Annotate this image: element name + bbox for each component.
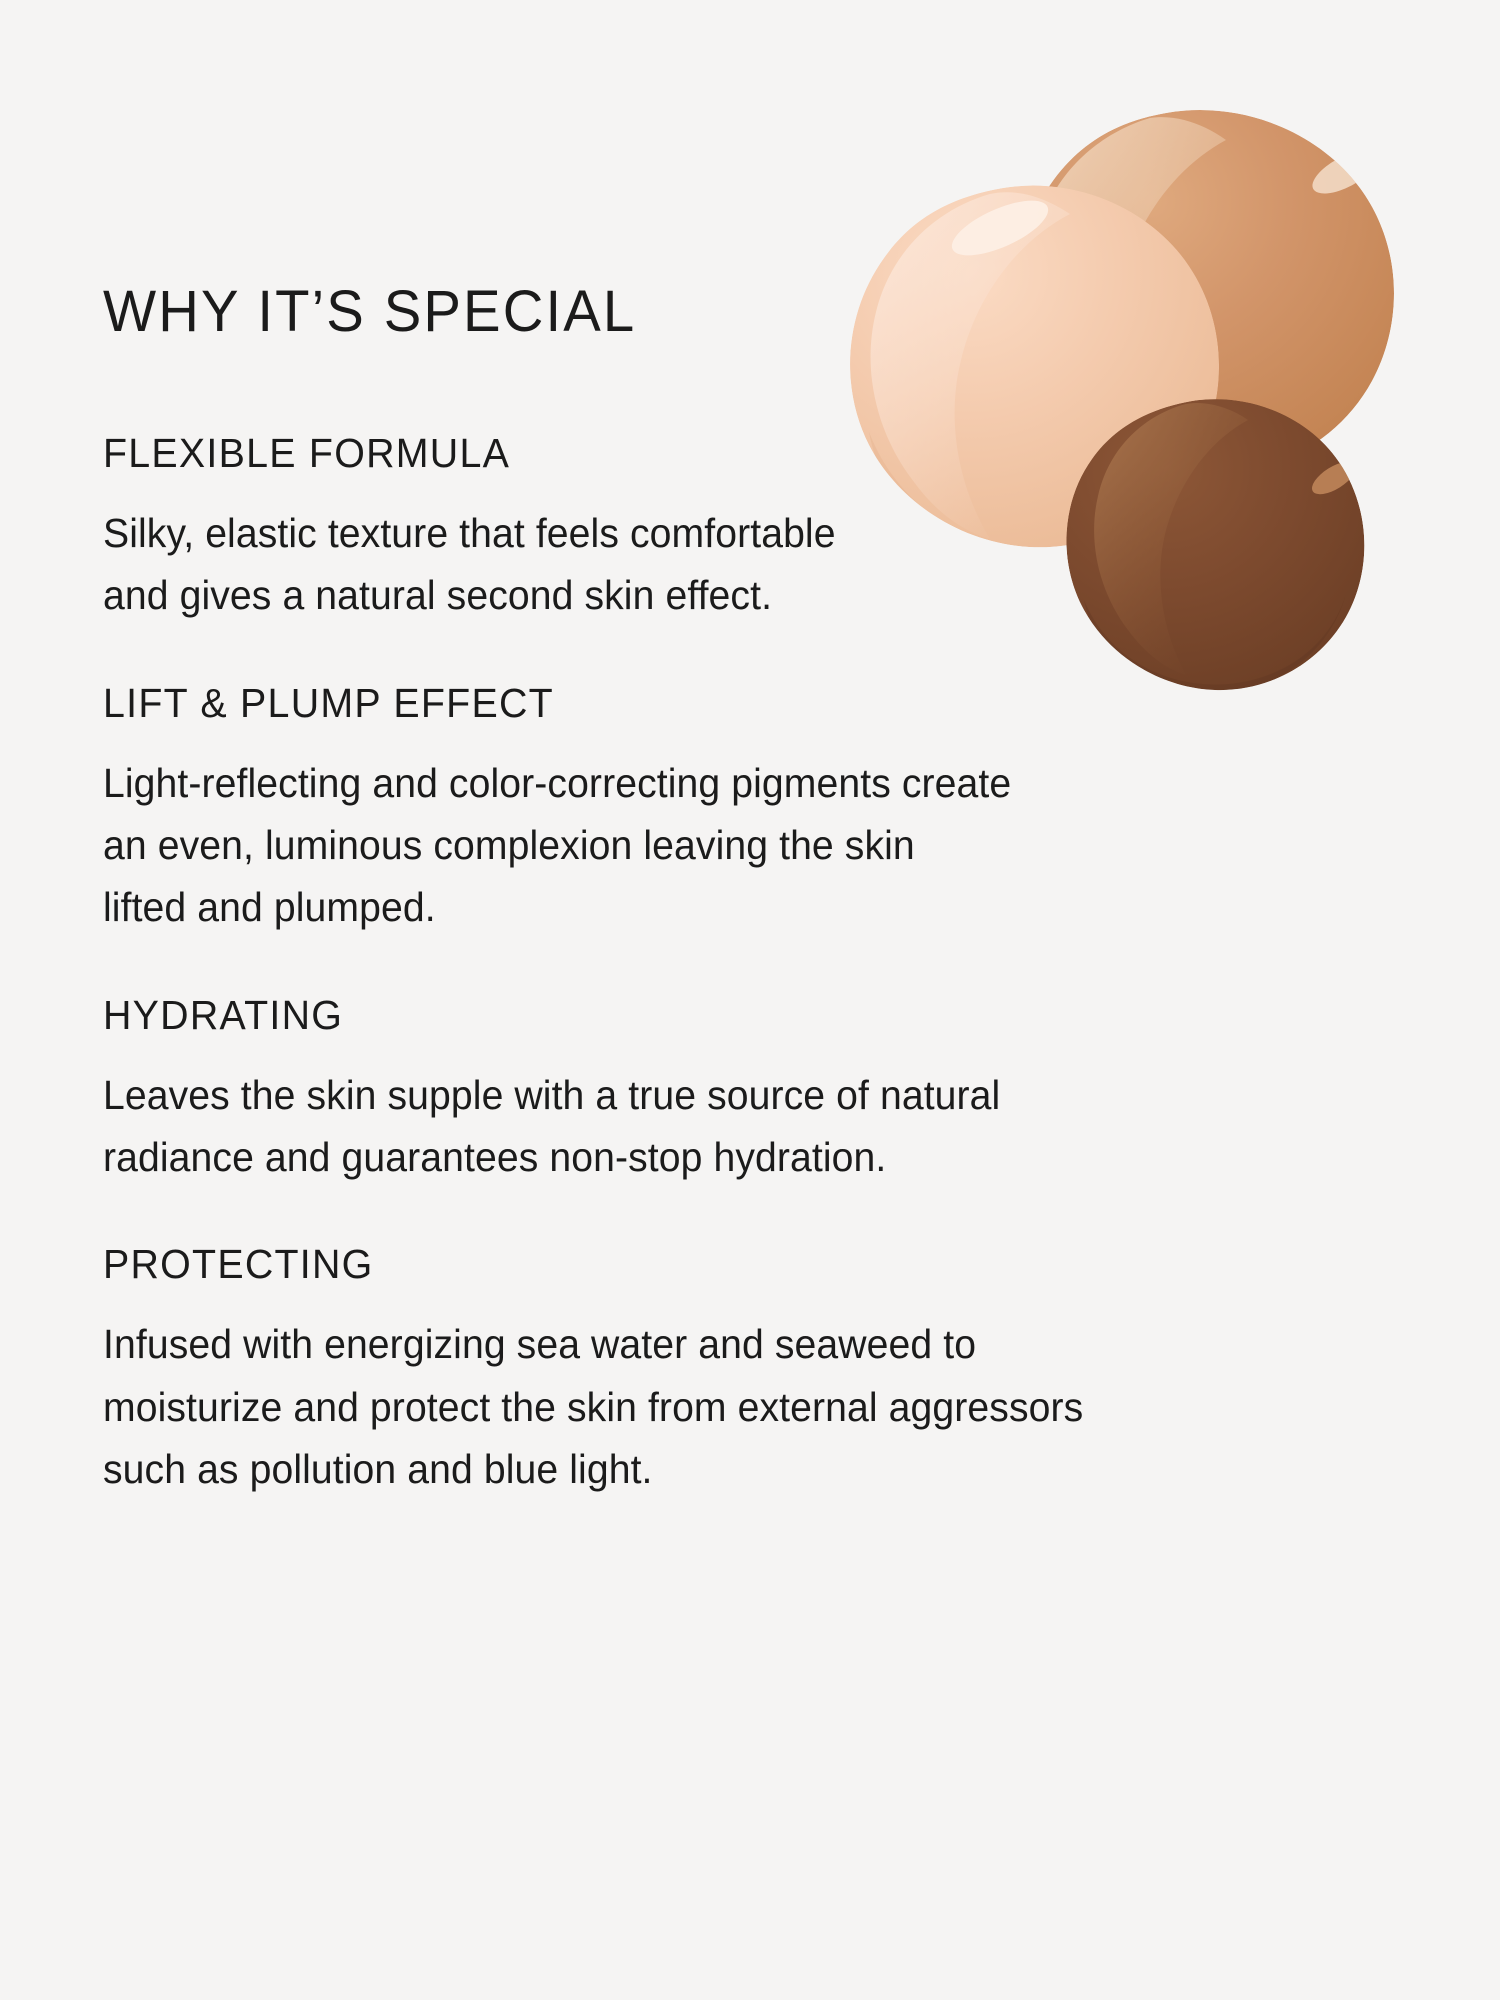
- section-body: Leaves the skin supple with a true sourc…: [103, 1064, 1383, 1189]
- benefit-section-flexible-formula: FLEXIBLE FORMULA Silky, elastic texture …: [103, 433, 1443, 627]
- section-body: Infused with energizing sea water and se…: [103, 1313, 1383, 1500]
- section-heading: LIFT & PLUMP EFFECT: [103, 683, 1389, 724]
- body-line: lifted and plumped.: [103, 876, 1383, 938]
- product-benefits-page: WHY IT’S SPECIAL FLEXIBLE FORMULA Silky,…: [0, 0, 1500, 2000]
- body-line: Light-reflecting and color-correcting pi…: [103, 752, 1383, 814]
- section-body: Light-reflecting and color-correcting pi…: [103, 752, 1383, 939]
- body-line: radiance and guarantees non-stop hydrati…: [103, 1126, 1383, 1188]
- body-line: and gives a natural second skin effect.: [103, 564, 1383, 626]
- section-heading: PROTECTING: [103, 1244, 1389, 1285]
- section-heading: HYDRATING: [103, 995, 1389, 1036]
- body-line: Leaves the skin supple with a true sourc…: [103, 1064, 1383, 1126]
- body-line: Silky, elastic texture that feels comfor…: [103, 502, 1383, 564]
- body-line: such as pollution and blue light.: [103, 1438, 1383, 1500]
- section-heading: FLEXIBLE FORMULA: [103, 433, 1389, 474]
- content-column: WHY IT’S SPECIAL FLEXIBLE FORMULA Silky,…: [103, 283, 1443, 1500]
- benefit-section-protecting: PROTECTING Infused with energizing sea w…: [103, 1244, 1443, 1500]
- section-body: Silky, elastic texture that feels comfor…: [103, 502, 1383, 627]
- body-line: moisturize and protect the skin from ext…: [103, 1376, 1383, 1438]
- body-line: an even, luminous complexion leaving the…: [103, 814, 1383, 876]
- body-line: Infused with energizing sea water and se…: [103, 1313, 1383, 1375]
- page-title: WHY IT’S SPECIAL: [103, 283, 1403, 341]
- benefit-section-lift-and-plump-effect: LIFT & PLUMP EFFECT Light-reflecting and…: [103, 683, 1443, 939]
- benefit-section-hydrating: HYDRATING Leaves the skin supple with a …: [103, 995, 1443, 1189]
